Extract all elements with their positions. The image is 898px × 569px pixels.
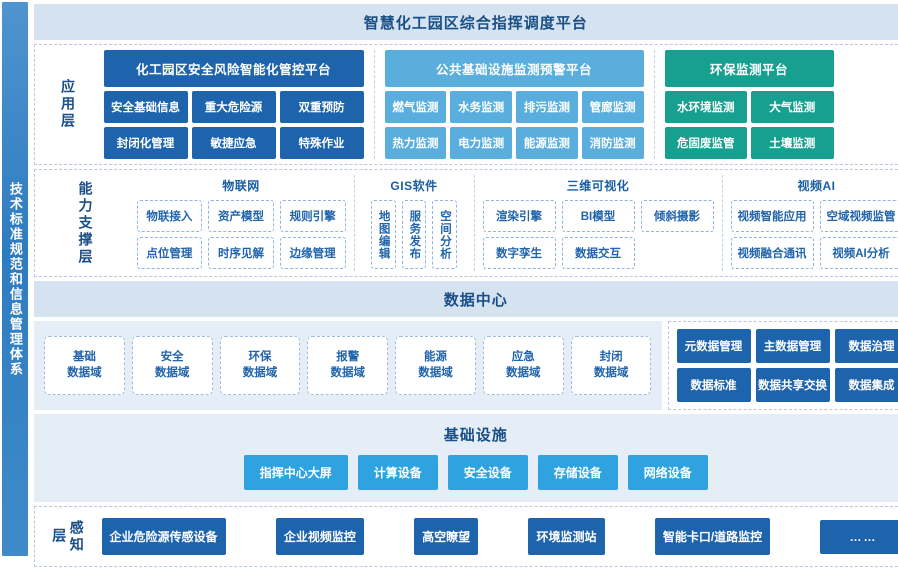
app-cell[interactable]: 敏捷应急 [192,127,276,159]
capability-layer-label: 能力支撑层 [41,175,129,271]
app-group-head[interactable]: 公共基础设施监测预警平台 [385,50,644,87]
app-cell[interactable]: 消防监测 [582,127,644,159]
cap-cell[interactable]: 时序见解 [208,237,274,269]
perception-layer-label: 感知层 [41,512,94,561]
application-groups: 化工园区安全风险智能化管控平台 安全基础信息 重大危险源 双重预防 封闭化管理 … [94,50,898,159]
perception-item[interactable]: 高空瞭望 [414,518,478,555]
app-cell[interactable]: 燃气监测 [385,91,447,123]
app-cell[interactable]: 水务监测 [450,91,512,123]
cap-cell[interactable]: 倾斜摄影 [641,200,714,232]
app-group-environment-platform: 环保监测平台 水环境监测 大气监测 危固废监管 土壤监测 [654,50,844,159]
cap-cell-vertical[interactable]: 地图编辑 [371,200,396,269]
app-cell[interactable]: 安全基础信息 [104,91,188,123]
cap-row: 物联接入 资产模型 规则引擎 [137,200,346,232]
perception-item[interactable]: 智能卡口/道路监控 [655,518,770,555]
page-title: 智慧化工园区综合指挥调度平台 [34,4,898,40]
app-group-public-infra-platform: 公共基础设施监测预警平台 燃气监测 水务监测 排污监测 管廊监测 热力监测 电力… [374,50,654,159]
capability-groups: 物联网 物联接入 资产模型 规则引擎 点位管理 时序见解 边缘管理 [129,175,898,271]
app-group-row: 热力监测 电力监测 能源监测 消防监测 [385,127,644,159]
app-cell[interactable]: 重大危险源 [192,91,276,123]
data-management-cell[interactable]: 元数据管理 [677,329,751,363]
app-cell[interactable]: 能源监测 [516,127,578,159]
app-group-head[interactable]: 化工园区安全风险智能化管控平台 [104,50,364,87]
cap-group-head: GIS软件 [363,177,466,194]
perception-layer-label-text: 感知层 [50,512,85,561]
cap-cell[interactable]: BI模型 [562,200,635,232]
cap-cell[interactable]: 点位管理 [137,237,203,269]
cap-cell[interactable]: 视频融合通讯 [731,237,814,269]
data-domain-label-b: 安全数据域 [155,351,190,379]
cap-cell[interactable]: 数据交互 [562,237,635,269]
cap-cell[interactable]: 数字孪生 [483,237,556,269]
data-domain-list: 基础数据域 安全数据域 环保数据域 报警数据域 能源数据域 应急数据域 封闭数据… [34,321,662,410]
cap-row: 视频融合通讯 视频AI分析 [731,237,898,269]
cap-row: 数字孪生 数据交互 [483,237,714,269]
perception-layer: 感知层 企业危险源传感设备 企业视频监控 高空瞭望 环境监测站 智能卡口/道路监… [34,506,898,567]
cap-group-gis: GIS软件 地图编辑 服务发布 空间分析 [354,175,474,271]
cap-group-iot: 物联网 物联接入 资产模型 规则引擎 点位管理 时序见解 边缘管理 [129,175,354,271]
cap-row: 渲染引擎 BI模型 倾斜摄影 [483,200,714,232]
data-management-row: 数据标准 数据共享交换 数据集成 [677,368,898,402]
cap-group-three-d: 三维可视化 渲染引擎 BI模型 倾斜摄影 数字孪生 数据交互 [474,175,722,271]
data-management-cell[interactable]: 主数据管理 [756,329,830,363]
cap-cell[interactable]: 物联接入 [137,200,203,232]
app-cell[interactable]: 危固废监管 [665,127,748,159]
data-domain-label-d: 报警数据域 [330,351,365,379]
infrastructure-item[interactable]: 网络设备 [628,455,708,490]
architecture-diagram: 技术标准规范和信息管理体系 智慧化工园区综合指挥调度平台 应用层 化工园区安全风… [0,0,898,560]
app-group-row: 燃气监测 水务监测 排污监测 管廊监测 [385,91,644,123]
perception-item-more[interactable]: …… [820,520,898,554]
data-center-title: 数据中心 [34,281,898,317]
infrastructure-item[interactable]: 安全设备 [448,455,528,490]
app-cell[interactable]: 水环境监测 [665,91,748,123]
infrastructure-item[interactable]: 指挥中心大屏 [244,455,348,490]
app-cell[interactable]: 封闭化管理 [104,127,188,159]
app-cell[interactable]: 特殊作业 [280,127,364,159]
cap-cell[interactable]: 视频智能应用 [731,200,814,232]
cap-cell-spacer [641,237,714,269]
app-cell[interactable]: 大气监测 [751,91,834,123]
cap-group-video-ai: 视频AI 视频智能应用 空域视频监管 视频融合通讯 视频AI分析 [722,175,898,271]
cap-cell[interactable]: 视频AI分析 [820,237,898,269]
app-group-row: 水环境监测 大气监测 [665,91,834,123]
infrastructure-section: 基础设施 指挥中心大屏 计算设备 安全设备 存储设备 网络设备 [34,414,898,502]
data-domain-item[interactable]: 环保数据域 [220,336,301,395]
data-domain-item[interactable]: 应急数据域 [483,336,564,395]
cap-cell[interactable]: 资产模型 [208,200,274,232]
cap-cell[interactable]: 空域视频监管 [820,200,898,232]
cap-cell[interactable]: 渲染引擎 [483,200,556,232]
cap-group-rows: 物联接入 资产模型 规则引擎 点位管理 时序见解 边缘管理 [137,200,346,269]
data-domain-label-e: 能源数据域 [418,351,453,379]
data-management-cell[interactable]: 数据共享交换 [756,368,830,402]
data-domain-label-a: 基础数据域 [67,351,102,379]
data-domain-label-g: 封闭数据域 [594,351,629,379]
cap-cell[interactable]: 边缘管理 [280,237,346,269]
left-sidebar-tech-standards: 技术标准规范和信息管理体系 [2,2,28,556]
cap-group-rows: 视频智能应用 空域视频监管 视频融合通讯 视频AI分析 [731,200,898,269]
cap-row: 视频智能应用 空域视频监管 [731,200,898,232]
data-domain-label-f: 应急数据域 [506,351,541,379]
app-group-row: 封闭化管理 敏捷应急 特殊作业 [104,127,364,159]
cap-group-rows: 渲染引擎 BI模型 倾斜摄影 数字孪生 数据交互 [483,200,714,269]
capability-support-layer: 能力支撑层 物联网 物联接入 资产模型 规则引擎 点位管理 时序见解 [34,169,898,277]
data-center-body: 基础数据域 安全数据域 环保数据域 报警数据域 能源数据域 应急数据域 封闭数据… [34,321,898,410]
cap-cell-vertical[interactable]: 服务发布 [402,200,427,269]
infrastructure-item[interactable]: 存储设备 [538,455,618,490]
capability-layer-label-text: 能力支撑层 [76,181,94,266]
diagram-center-column: 智慧化工园区综合指挥调度平台 应用层 化工园区安全风险智能化管控平台 安全基础信… [28,0,898,560]
app-group-safety-platform: 化工园区安全风险智能化管控平台 安全基础信息 重大危险源 双重预防 封闭化管理 … [94,50,374,159]
perception-item[interactable]: 企业危险源传感设备 [102,518,226,555]
data-domain-item[interactable]: 能源数据域 [395,336,476,395]
data-domain-item[interactable]: 报警数据域 [307,336,388,395]
cap-group-head: 三维可视化 [483,177,714,194]
cap-cell-vertical[interactable]: 空间分析 [432,200,457,269]
app-group-head[interactable]: 环保监测平台 [665,50,834,87]
data-domain-item[interactable]: 封闭数据域 [571,336,652,395]
perception-items: 企业危险源传感设备 企业视频监控 高空瞭望 环境监测站 智能卡口/道路监控 …… [94,512,898,561]
data-management-cell[interactable]: 数据集成 [835,368,898,402]
cap-group-head: 物联网 [137,177,346,194]
infrastructure-items: 指挥中心大屏 计算设备 安全设备 存储设备 网络设备 [34,455,898,490]
left-sidebar-label: 技术标准规范和信息管理体系 [8,182,22,377]
app-cell[interactable]: 管廊监测 [582,91,644,123]
app-group-row: 危固废监管 土壤监测 [665,127,834,159]
cap-row: 点位管理 时序见解 边缘管理 [137,237,346,269]
application-layer-label: 应用层 [41,50,94,159]
infrastructure-title: 基础设施 [34,424,898,445]
application-layer: 应用层 化工园区安全风险智能化管控平台 安全基础信息 重大危险源 双重预防 封闭… [34,44,898,165]
app-group-row: 安全基础信息 重大危险源 双重预防 [104,91,364,123]
gis-vertical-cells: 地图编辑 服务发布 空间分析 [363,200,466,269]
perception-item[interactable]: 环境监测站 [528,518,604,555]
data-domain-item[interactable]: 安全数据域 [132,336,213,395]
infrastructure-item[interactable]: 计算设备 [358,455,438,490]
cap-cell[interactable]: 规则引擎 [280,200,346,232]
app-cell[interactable]: 热力监测 [385,127,447,159]
data-management-panel: 元数据管理 主数据管理 数据治理 数据标准 数据共享交换 数据集成 [668,321,898,410]
application-layer-label-text: 应用层 [59,79,77,130]
perception-item[interactable]: 企业视频监控 [276,518,364,555]
app-cell[interactable]: 排污监测 [516,91,578,123]
data-center-section: 数据中心 [34,281,898,317]
data-domain-label-c: 环保数据域 [243,351,278,379]
app-cell[interactable]: 双重预防 [280,91,364,123]
app-cell[interactable]: 土壤监测 [751,127,834,159]
data-management-cell[interactable]: 数据治理 [835,329,898,363]
data-management-cell[interactable]: 数据标准 [677,368,751,402]
data-management-row: 元数据管理 主数据管理 数据治理 [677,329,898,363]
cap-group-head: 视频AI [731,177,898,194]
data-domain-item[interactable]: 基础数据域 [44,336,125,395]
app-cell[interactable]: 电力监测 [450,127,512,159]
